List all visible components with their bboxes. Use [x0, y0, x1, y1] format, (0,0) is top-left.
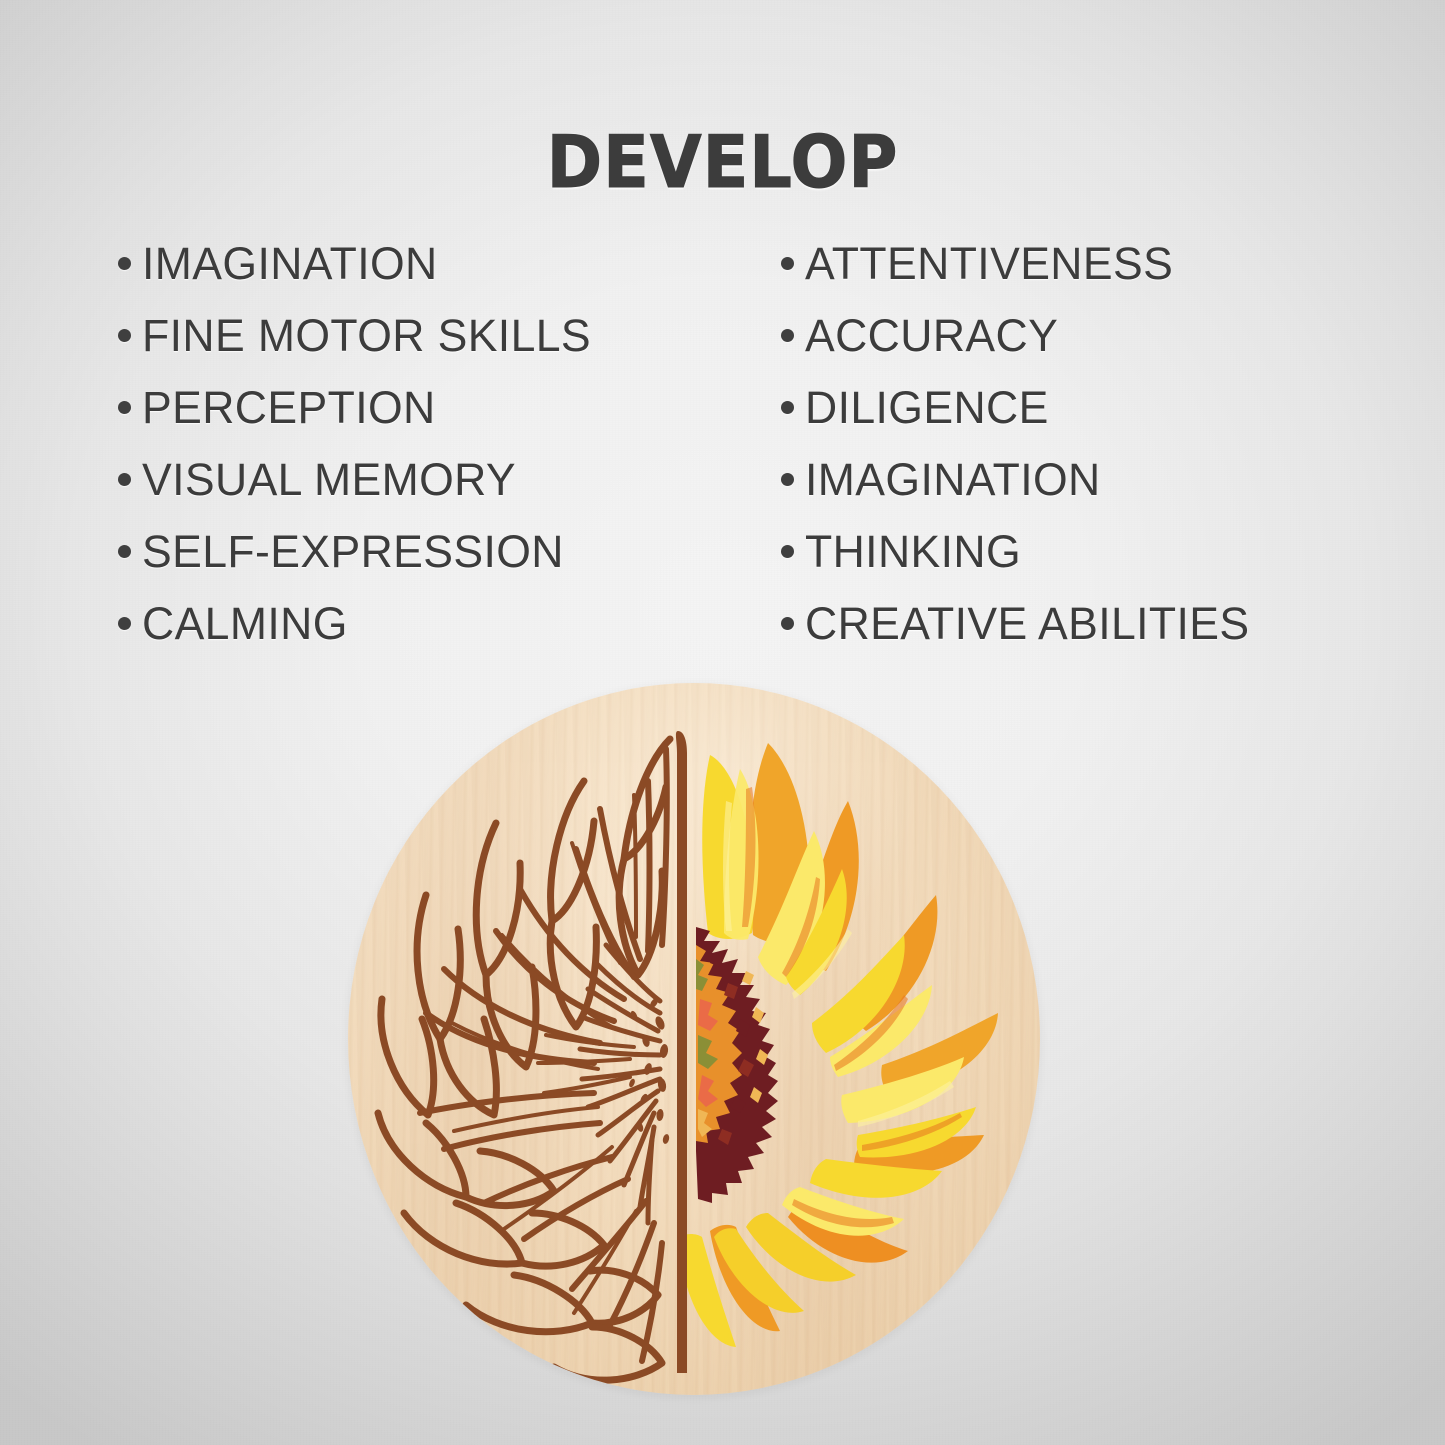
list-item: ATTENTIVENESS	[781, 228, 1401, 300]
bullet-dot-icon	[781, 257, 794, 270]
bullet-dot-icon	[781, 473, 794, 486]
poster-canvas: DEVELOP IMAGINATION FINE MOTOR SKILLS PE…	[0, 0, 1445, 1445]
list-item-label: IMAGINATION	[142, 228, 438, 300]
list-item-label: DILIGENCE	[805, 372, 1049, 444]
list-item: PERCEPTION	[118, 372, 718, 444]
list-item: FINE MOTOR SKILLS	[118, 300, 718, 372]
sunflower-graphic	[348, 683, 1040, 1395]
bullet-dot-icon	[118, 401, 131, 414]
list-item-label: SELF-EXPRESSION	[142, 516, 564, 588]
list-item: VISUAL MEMORY	[118, 444, 718, 516]
sunflower-artwork	[348, 683, 1040, 1395]
list-item-label: THINKING	[805, 516, 1021, 588]
list-item-label: CREATIVE ABILITIES	[805, 588, 1250, 660]
list-item-label: VISUAL MEMORY	[142, 444, 516, 516]
page-title: DEVELOP	[51, 120, 1395, 204]
bullet-dot-icon	[781, 329, 794, 342]
list-item: IMAGINATION	[118, 228, 718, 300]
list-item: THINKING	[781, 516, 1401, 588]
bullet-dot-icon	[781, 617, 794, 630]
sunflower-colored-half	[678, 743, 998, 1347]
list-item-label: PERCEPTION	[142, 372, 436, 444]
bullet-dot-icon	[781, 545, 794, 558]
list-item-label: ACCURACY	[805, 300, 1058, 372]
list-item-label: IMAGINATION	[805, 444, 1101, 516]
list-item: IMAGINATION	[781, 444, 1401, 516]
list-item-label: CALMING	[142, 588, 348, 660]
bullet-dot-icon	[118, 473, 131, 486]
list-item: CALMING	[118, 588, 718, 660]
list-item: ACCURACY	[781, 300, 1401, 372]
bullet-dot-icon	[118, 329, 131, 342]
list-item-label: ATTENTIVENESS	[805, 228, 1173, 300]
bullet-dot-icon	[781, 401, 794, 414]
list-item-label: FINE MOTOR SKILLS	[142, 300, 591, 372]
bullet-dot-icon	[118, 545, 131, 558]
list-item: CREATIVE ABILITIES	[781, 588, 1401, 660]
benefits-list-right: ATTENTIVENESS ACCURACY DILIGENCE IMAGINA…	[781, 228, 1401, 660]
center-divider-line	[676, 731, 687, 1373]
benefits-list-left: IMAGINATION FINE MOTOR SKILLS PERCEPTION…	[118, 228, 718, 660]
sunflower-engraved-half	[378, 739, 670, 1380]
bullet-dot-icon	[118, 617, 131, 630]
list-item: DILIGENCE	[781, 372, 1401, 444]
list-item: SELF-EXPRESSION	[118, 516, 718, 588]
bullet-dot-icon	[118, 257, 131, 270]
